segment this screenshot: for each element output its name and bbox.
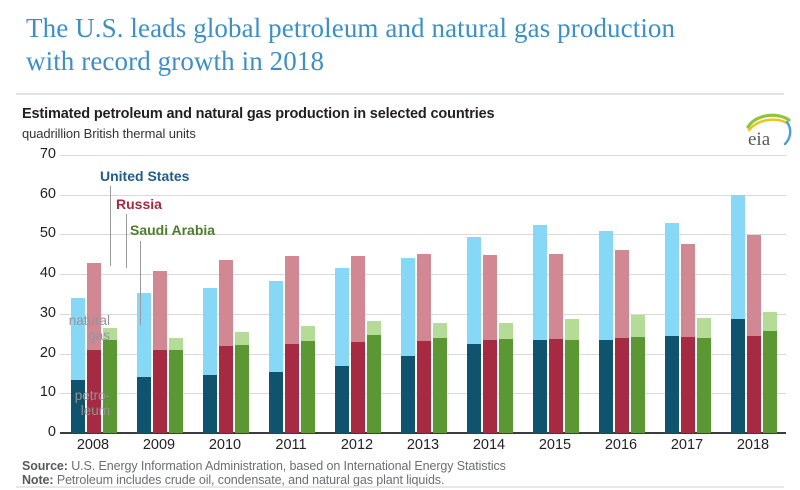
bar-saudi-arabia-2015[interactable] bbox=[565, 319, 579, 433]
segment-petroleum bbox=[269, 372, 283, 433]
x-tick-2017: 2017 bbox=[671, 437, 703, 453]
segment-natural-gas bbox=[483, 255, 497, 340]
segment-natural-gas bbox=[367, 321, 381, 335]
segment-petroleum bbox=[665, 336, 679, 433]
bar-united-states-2013[interactable] bbox=[401, 258, 415, 433]
annotation-natural-gas-line2: gas bbox=[2, 328, 110, 343]
segment-petroleum bbox=[203, 375, 217, 433]
note-line: Note: Petroleum includes crude oil, cond… bbox=[22, 473, 444, 487]
segment-natural-gas bbox=[731, 195, 745, 319]
bar-group-2018 bbox=[731, 155, 777, 433]
legend-label-russia: Russia bbox=[116, 196, 162, 212]
segment-natural-gas bbox=[203, 288, 217, 374]
eia-logo-text: eia bbox=[748, 129, 771, 150]
annotation-petroleum-line2: leum bbox=[2, 403, 110, 418]
x-tick-2014: 2014 bbox=[473, 437, 505, 453]
segment-natural-gas bbox=[747, 235, 761, 336]
annotation-natural-gas-line1: natural bbox=[2, 313, 110, 328]
y-tick-20: 20 bbox=[18, 345, 56, 361]
y-tick-70: 70 bbox=[18, 146, 56, 162]
segment-petroleum bbox=[681, 337, 695, 433]
segment-petroleum bbox=[599, 340, 613, 433]
bar-russia-2015[interactable] bbox=[549, 254, 563, 433]
bar-united-states-2012[interactable] bbox=[335, 268, 349, 433]
segment-petroleum bbox=[103, 340, 117, 433]
y-tick-60: 60 bbox=[18, 186, 56, 202]
x-tick-2018: 2018 bbox=[737, 437, 769, 453]
bar-saudi-arabia-2009[interactable] bbox=[169, 338, 183, 433]
segment-petroleum bbox=[433, 338, 447, 433]
x-tick-2008: 2008 bbox=[77, 437, 109, 453]
annotation-natural-gas: natural gas bbox=[2, 313, 110, 343]
bar-russia-2017[interactable] bbox=[681, 244, 695, 433]
chart-subtitle: Estimated petroleum and natural gas prod… bbox=[22, 106, 494, 122]
segment-petroleum bbox=[467, 344, 481, 433]
segment-natural-gas bbox=[665, 223, 679, 337]
segment-petroleum bbox=[631, 337, 645, 434]
bar-group-2014 bbox=[467, 155, 513, 433]
x-axis-labels: 2008200920102011201220132014201520162017… bbox=[60, 437, 786, 459]
segment-natural-gas bbox=[467, 237, 481, 344]
segment-natural-gas bbox=[219, 260, 233, 346]
bar-saudi-arabia-2018[interactable] bbox=[763, 312, 777, 433]
bar-group-2017 bbox=[665, 155, 711, 433]
bar-russia-2013[interactable] bbox=[417, 254, 431, 434]
legend-label-saudi-arabia: Saudi Arabia bbox=[130, 222, 215, 238]
segment-petroleum bbox=[351, 342, 365, 433]
segment-natural-gas bbox=[335, 268, 349, 365]
segment-natural-gas bbox=[285, 256, 299, 343]
bar-russia-2009[interactable] bbox=[153, 271, 167, 433]
note-text: Petroleum includes crude oil, condensate… bbox=[53, 473, 444, 487]
bar-group-2016 bbox=[599, 155, 645, 433]
segment-petroleum bbox=[565, 340, 579, 433]
segment-natural-gas bbox=[533, 225, 547, 341]
segment-petroleum bbox=[367, 335, 381, 433]
bar-united-states-2017[interactable] bbox=[665, 223, 679, 433]
bar-group-2010 bbox=[203, 155, 249, 433]
segment-natural-gas bbox=[681, 244, 695, 338]
segment-petroleum bbox=[483, 340, 497, 433]
segment-natural-gas bbox=[417, 254, 431, 341]
chart-units-label: quadrillion British thermal units bbox=[22, 126, 196, 141]
leader-line-saudi-arabia bbox=[140, 241, 141, 325]
eia-logo: eia bbox=[742, 110, 794, 150]
segment-natural-gas bbox=[235, 332, 249, 345]
bar-united-states-2011[interactable] bbox=[269, 281, 283, 434]
bar-saudi-arabia-2011[interactable] bbox=[301, 326, 315, 433]
segment-petroleum bbox=[697, 338, 711, 433]
x-tick-2011: 2011 bbox=[275, 437, 306, 453]
x-tick-2009: 2009 bbox=[143, 437, 175, 453]
segment-petroleum bbox=[153, 350, 167, 433]
segment-petroleum bbox=[533, 340, 547, 433]
bar-saudi-arabia-2013[interactable] bbox=[433, 323, 447, 433]
segment-natural-gas bbox=[169, 338, 183, 350]
segment-petroleum bbox=[285, 344, 299, 433]
bar-united-states-2018[interactable] bbox=[731, 195, 745, 433]
segment-petroleum bbox=[747, 336, 761, 433]
segment-natural-gas bbox=[549, 254, 563, 339]
y-tick-0: 0 bbox=[18, 424, 56, 440]
x-tick-2013: 2013 bbox=[407, 437, 439, 453]
bar-russia-2014[interactable] bbox=[483, 255, 497, 433]
segment-petroleum bbox=[417, 341, 431, 433]
y-tick-40: 40 bbox=[18, 265, 56, 281]
segment-natural-gas bbox=[401, 258, 415, 356]
bar-saudi-arabia-2012[interactable] bbox=[367, 321, 381, 433]
segment-petroleum bbox=[235, 345, 249, 433]
note-label: Note: bbox=[22, 473, 53, 487]
segment-natural-gas bbox=[433, 323, 447, 338]
source-line: Source: U.S. Energy Information Administ… bbox=[22, 459, 506, 473]
segment-petroleum bbox=[301, 341, 315, 433]
segment-natural-gas bbox=[615, 250, 629, 337]
source-label: Source: bbox=[22, 459, 68, 473]
bar-russia-2012[interactable] bbox=[351, 256, 365, 433]
leader-line-russia bbox=[126, 214, 127, 268]
segment-natural-gas bbox=[763, 312, 777, 330]
bar-group-2012 bbox=[335, 155, 381, 433]
segment-petroleum bbox=[615, 338, 629, 433]
bar-united-states-2016[interactable] bbox=[599, 231, 613, 433]
header-divider bbox=[16, 93, 784, 95]
segment-natural-gas bbox=[351, 256, 365, 343]
bar-russia-2010[interactable] bbox=[219, 260, 233, 433]
bar-united-states-2014[interactable] bbox=[467, 237, 481, 433]
bar-group-2013 bbox=[401, 155, 447, 433]
segment-petroleum bbox=[169, 350, 183, 433]
segment-petroleum bbox=[137, 377, 151, 433]
bar-united-states-2010[interactable] bbox=[203, 288, 217, 433]
segment-natural-gas bbox=[499, 323, 513, 339]
y-tick-50: 50 bbox=[18, 225, 56, 241]
bar-united-states-2015[interactable] bbox=[533, 225, 547, 433]
bar-saudi-arabia-2017[interactable] bbox=[697, 318, 711, 433]
bar-saudi-arabia-2010[interactable] bbox=[235, 332, 249, 433]
segment-petroleum bbox=[499, 339, 513, 433]
bar-saudi-arabia-2016[interactable] bbox=[631, 315, 645, 433]
segment-petroleum bbox=[401, 356, 415, 433]
x-tick-2015: 2015 bbox=[539, 437, 571, 453]
x-tick-2012: 2012 bbox=[341, 437, 373, 453]
segment-petroleum bbox=[763, 331, 777, 433]
bar-russia-2018[interactable] bbox=[747, 235, 761, 433]
bar-russia-2011[interactable] bbox=[285, 256, 299, 433]
page-title: The U.S. leads global petroleum and natu… bbox=[26, 12, 726, 78]
segment-natural-gas bbox=[269, 281, 283, 372]
plot-area bbox=[60, 155, 786, 433]
segment-natural-gas bbox=[697, 318, 711, 338]
footer-divider bbox=[16, 486, 784, 488]
bar-group-2015 bbox=[533, 155, 579, 433]
source-text: U.S. Energy Information Administration, … bbox=[68, 459, 506, 473]
segment-petroleum bbox=[335, 366, 349, 434]
bar-saudi-arabia-2014[interactable] bbox=[499, 323, 513, 433]
segment-natural-gas bbox=[565, 319, 579, 339]
segment-petroleum bbox=[219, 346, 233, 433]
legend-label-united-states: United States bbox=[100, 168, 189, 184]
x-tick-2016: 2016 bbox=[605, 437, 637, 453]
segment-natural-gas bbox=[631, 315, 645, 336]
x-tick-2010: 2010 bbox=[209, 437, 241, 453]
chart-page: The U.S. leads global petroleum and natu… bbox=[0, 0, 800, 490]
annotation-petroleum-line1: petro- bbox=[2, 388, 110, 403]
segment-petroleum bbox=[549, 339, 563, 433]
bar-group-2011 bbox=[269, 155, 315, 433]
bar-russia-2016[interactable] bbox=[615, 250, 629, 433]
segment-petroleum bbox=[731, 319, 745, 433]
segment-natural-gas bbox=[153, 271, 167, 350]
leader-line-united-states bbox=[110, 186, 111, 266]
segment-natural-gas bbox=[599, 231, 613, 341]
segment-natural-gas bbox=[301, 326, 315, 341]
annotation-petroleum: petro- leum bbox=[2, 388, 110, 418]
